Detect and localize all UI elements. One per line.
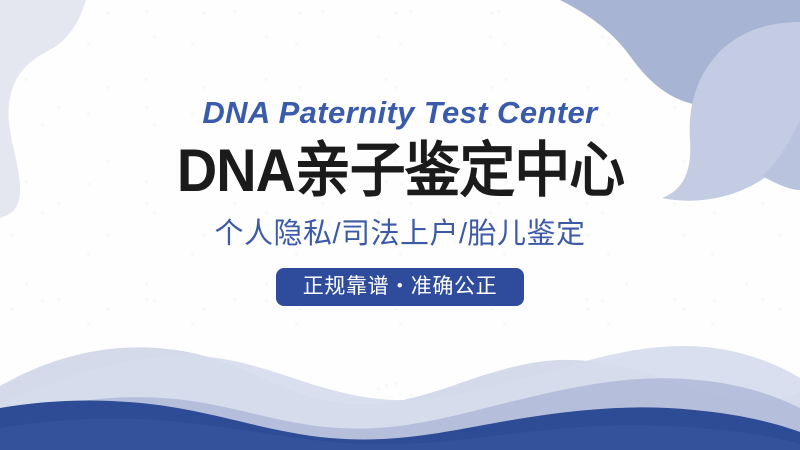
trust-badge[interactable]: 正规靠谱・准确公正	[276, 268, 524, 306]
promo-banner: DNA Paternity Test Center DNA亲子鉴定中心 个人隐私…	[0, 0, 800, 450]
english-title: DNA Paternity Test Center	[202, 94, 597, 132]
main-title: DNA亲子鉴定中心	[176, 138, 623, 204]
banner-content: DNA Paternity Test Center DNA亲子鉴定中心 个人隐私…	[0, 0, 800, 450]
service-subtitle: 个人隐私/司法上户/胎儿鉴定	[214, 216, 585, 252]
